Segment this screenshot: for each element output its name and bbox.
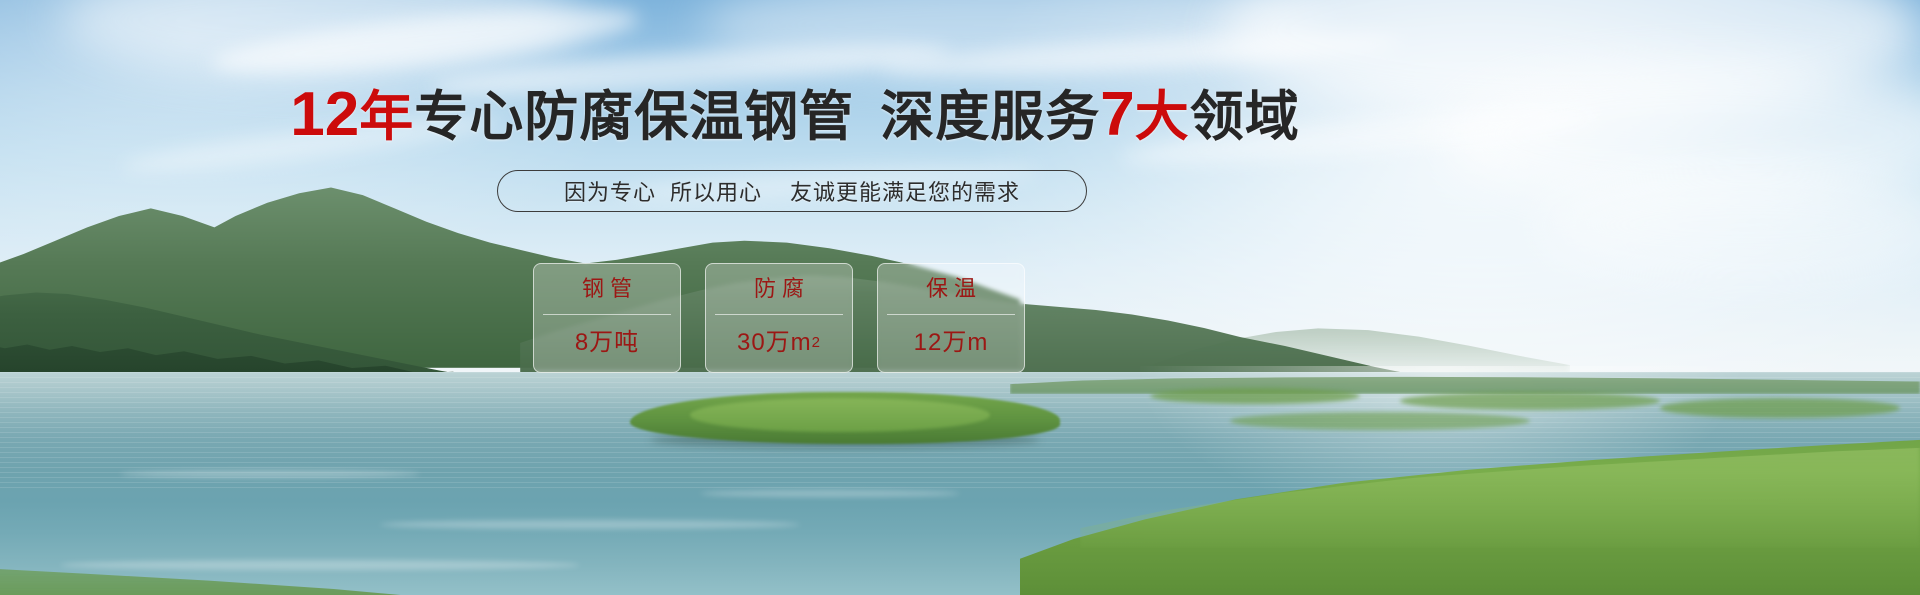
banner-content: 12年专心防腐保温钢管深度服务7大领域 因为专心所以用心友诚更能满足您的需求 钢… <box>0 0 1920 595</box>
headline-service-text: 深度服务 <box>880 87 1100 147</box>
subtitle-part-3: 友诚更能满足您的需求 <box>790 180 1020 205</box>
subtitle-part-2: 所以用心 <box>670 180 762 205</box>
headline-fields-text: 领域 <box>1190 87 1300 147</box>
stat-card-value-main: 12万m <box>914 328 989 358</box>
stat-card-value: 8万吨 <box>575 315 639 372</box>
subtitle-text: 因为专心所以用心友诚更能满足您的需求 <box>564 175 1020 207</box>
headline-years-number: 12 <box>290 80 359 149</box>
stat-card-value-main: 30万m <box>737 328 812 358</box>
stat-card-title: 防腐 <box>748 264 810 314</box>
stat-card-anticorrosion: 防腐 30万m2 <box>705 263 853 373</box>
promo-banner: 12年专心防腐保温钢管深度服务7大领域 因为专心所以用心友诚更能满足您的需求 钢… <box>0 0 1920 595</box>
stat-card-value: 12万m <box>914 315 989 372</box>
headline-fields-unit: 大 <box>1135 87 1190 147</box>
subtitle-pill: 因为专心所以用心友诚更能满足您的需求 <box>497 170 1087 212</box>
stat-card-value: 30万m2 <box>737 315 821 372</box>
subtitle-part-1: 因为专心 <box>564 180 656 205</box>
stat-card-steel-pipe: 钢管 8万吨 <box>533 263 681 373</box>
stat-cards: 钢管 8万吨 防腐 30万m2 保温 12万m <box>533 263 1028 373</box>
headline-fields-number: 7 <box>1100 80 1134 149</box>
stat-card-title: 钢管 <box>576 264 638 314</box>
stat-card-insulation: 保温 12万m <box>877 263 1025 373</box>
stat-card-value-main: 8万吨 <box>575 328 639 358</box>
banner-headline: 12年专心防腐保温钢管深度服务7大领域 <box>0 82 1590 150</box>
headline-main-text: 专心防腐保温钢管 <box>414 87 854 147</box>
stat-card-title: 保温 <box>920 264 982 314</box>
headline-years-unit: 年 <box>359 87 414 147</box>
